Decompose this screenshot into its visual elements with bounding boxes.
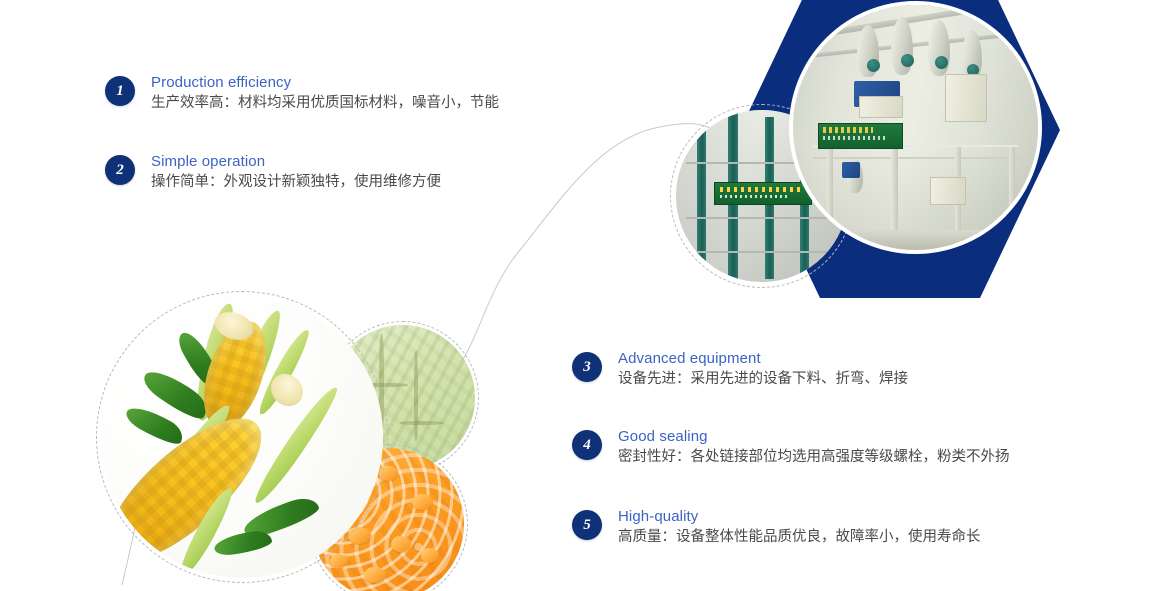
feature-row-1: 1 Production efficiency 生产效率高：材料均采用优质国标材… [105,76,499,114]
fresh-corn-cob-photo [101,296,383,578]
feature-badge-2: 2 [105,155,135,185]
feature-row-3: 3 Advanced equipment 设备先进：采用先进的设备下料、折弯、焊… [572,352,908,390]
feature-badge-1: 1 [105,76,135,106]
feature-text-3: Advanced equipment 设备先进：采用先进的设备下料、折弯、焊接 [618,349,908,390]
product-advantages-banner: 1 Production efficiency 生产效率高：材料均采用优质国标材… [0,0,1154,591]
flour-milling-plant-photo [793,5,1038,250]
feature-desc-5: 高质量：设备整体性能品质优良，故障率小，使用寿命长 [618,527,981,548]
feature-desc-1: 生产效率高：材料均采用优质国标材料，噪音小，节能 [151,93,499,114]
feature-row-2: 2 Simple operation 操作简单：外观设计新颖独特，使用维修方便 [105,155,441,193]
feature-text-4: Good sealing 密封性好：各处链接部位均选用高强度等级螺栓，粉类不外扬 [618,427,1010,468]
feature-desc-4: 密封性好：各处链接部位均选用高强度等级螺栓，粉类不外扬 [618,447,1010,468]
feature-desc-2: 操作简单：外观设计新颖独特，使用维修方便 [151,172,441,193]
feature-desc-3: 设备先进：采用先进的设备下料、折弯、焊接 [618,369,908,390]
feature-title-3: Advanced equipment [618,349,908,369]
feature-text-1: Production efficiency 生产效率高：材料均采用优质国标材料，… [151,73,499,114]
feature-text-5: High-quality 高质量：设备整体性能品质优良，故障率小，使用寿命长 [618,507,981,548]
feature-title-5: High-quality [618,507,981,527]
feature-title-4: Good sealing [618,427,1010,447]
feature-badge-5: 5 [572,510,602,540]
feature-badge-3: 3 [572,352,602,382]
feature-title-2: Simple operation [151,152,441,172]
feature-title-1: Production efficiency [151,73,499,93]
feature-badge-4: 4 [572,430,602,460]
feature-row-5: 5 High-quality 高质量：设备整体性能品质优良，故障率小，使用寿命长 [572,510,981,548]
feature-text-2: Simple operation 操作简单：外观设计新颖独特，使用维修方便 [151,152,441,193]
feature-row-4: 4 Good sealing 密封性好：各处链接部位均选用高强度等级螺栓，粉类不… [572,430,1010,468]
